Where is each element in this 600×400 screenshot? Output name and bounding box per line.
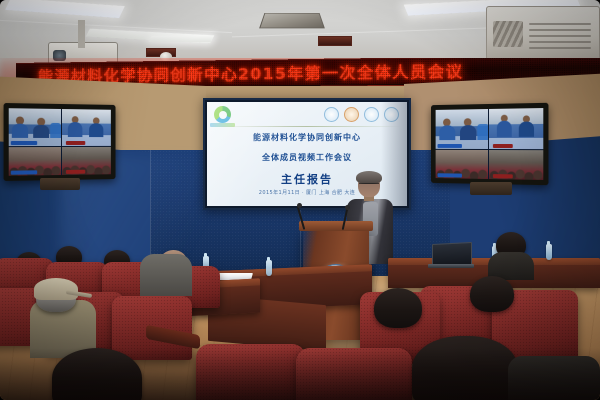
video-conference-monitor-left — [4, 103, 116, 181]
conference-hall-photo: 能源材料化学协同创新中心2015年第一次全体人员会议 能源材料化学协同创新 — [0, 0, 600, 400]
video-conference-monitor-right — [431, 103, 548, 185]
auditorium-seat — [196, 344, 306, 400]
partner-logo-icon — [364, 107, 379, 122]
attendee-head — [412, 336, 518, 400]
attendee-head — [470, 276, 514, 312]
ac-grill — [529, 41, 591, 43]
attendee-head — [374, 288, 422, 328]
ceiling-vent — [259, 13, 325, 28]
projector-mount — [78, 20, 85, 48]
ac-grill — [529, 35, 591, 37]
ceiling-light-panel — [149, 36, 214, 42]
podium-top — [299, 221, 373, 231]
partner-logo-icon — [324, 107, 339, 122]
attendee-torso — [508, 356, 600, 400]
air-conditioner — [486, 6, 600, 64]
microphone-head — [345, 205, 350, 210]
ac-grill — [529, 47, 591, 49]
attendee-cap — [34, 278, 78, 300]
monitor-mount-left — [40, 178, 80, 190]
ceiling-light-panel — [5, 0, 125, 18]
ceiling-vent — [318, 36, 352, 46]
center-logo-icon — [214, 106, 231, 123]
ac-vane — [493, 21, 523, 47]
auditorium-seat — [296, 348, 412, 400]
laptop-base — [428, 264, 474, 268]
ac-grill — [529, 23, 591, 25]
monitor-mount-right — [470, 182, 512, 195]
partner-logo-icon — [344, 107, 359, 122]
slide-meeting-title: 全体成员视频工作会议 — [207, 152, 407, 163]
monitor-bezel — [4, 103, 116, 181]
glasses-icon — [359, 183, 379, 188]
monitor-bezel — [431, 103, 548, 185]
microphone-head — [297, 203, 302, 208]
attendee-torso — [140, 254, 192, 296]
slide-organization: 能源材料化学协同创新中心 — [207, 132, 407, 143]
attendee-head — [52, 348, 142, 400]
slide-divider — [213, 126, 401, 127]
water-bottle — [546, 244, 552, 260]
ac-grill — [529, 29, 591, 31]
water-bottle — [266, 260, 272, 276]
